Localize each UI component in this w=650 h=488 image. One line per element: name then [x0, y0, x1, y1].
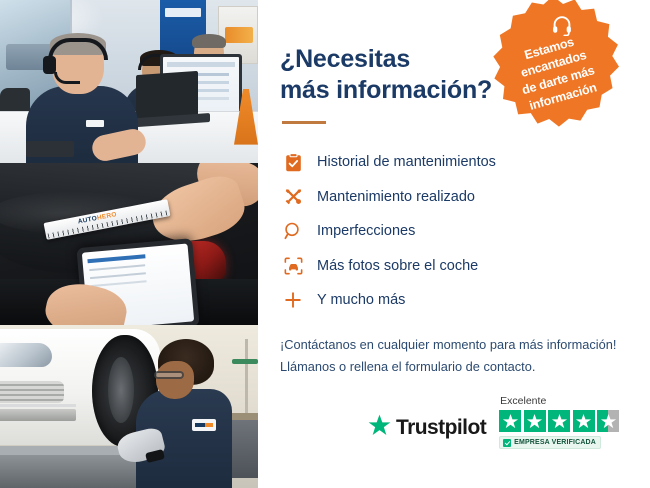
magnifier-icon [280, 222, 306, 240]
star-3 [548, 410, 570, 432]
car-inspection-ruler-photo: AUTOHERO [0, 163, 258, 326]
feature-item-imperfections: Imperfecciones [280, 215, 626, 247]
star-rating [499, 410, 619, 432]
rating-label: Excelente [499, 395, 546, 407]
title-divider [282, 121, 326, 124]
wall-tool [232, 359, 258, 364]
wrench-screwdriver-icon [280, 187, 306, 206]
feature-list: Historial de mantenimientos M [280, 146, 626, 316]
photo-column: AUTOHERO [0, 0, 258, 488]
desk-tablet [26, 141, 74, 157]
call-center-agents-photo [0, 0, 258, 163]
feature-item-maintenance-history: Historial de mantenimientos [280, 146, 626, 178]
trustpilot-star-icon [368, 414, 391, 441]
star-4 [573, 410, 595, 432]
trustpilot-wordmark: Trustpilot [396, 416, 486, 440]
page-title-line-2: más información? [280, 76, 492, 104]
info-request-banner: AUTOHERO [0, 0, 650, 488]
laptop [136, 70, 198, 118]
content-panel: ¿Necesitas más información? Historial de… [258, 0, 650, 488]
star-2 [524, 410, 546, 432]
clipboard-check-icon [280, 153, 306, 172]
verified-company-badge: EMPRESA VERIFICADA [499, 436, 601, 449]
verified-label: EMPRESA VERIFICADA [514, 439, 596, 446]
feature-item-maintenance-done: Mantenimiento realizado [280, 181, 626, 213]
plus-icon [280, 291, 306, 309]
mechanic [136, 339, 232, 488]
feature-label: Imperfecciones [306, 223, 415, 239]
car-scan-icon [280, 257, 306, 275]
trustpilot-logo[interactable]: Trustpilot [368, 414, 486, 449]
feature-label: Mantenimiento realizado [306, 189, 475, 205]
contact-line-2: Llámanos o rellena el formulario de cont… [280, 356, 626, 378]
trustpilot-rating: Excelente [499, 395, 619, 449]
star-1 [499, 410, 521, 432]
mechanic-wheel-inspection-photo [0, 325, 258, 488]
contact-line-1: ¡Contáctanos en cualquier momento para m… [280, 334, 626, 356]
page-title: ¿Necesitas más información? [280, 44, 510, 105]
page-title-line-1: ¿Necesitas [280, 45, 410, 73]
contact-text: ¡Contáctanos en cualquier momento para m… [280, 334, 626, 378]
trustpilot-widget[interactable]: Trustpilot Excelente [368, 395, 619, 449]
feature-item-more-photos: Más fotos sobre el coche [280, 250, 626, 282]
feature-label: Historial de mantenimientos [306, 154, 496, 170]
star-5 [597, 410, 619, 432]
promo-badge: Estamos encantados de darte más informac… [487, 0, 619, 128]
badge-text: Estamos encantados de darte más informac… [471, 0, 634, 144]
feature-label: Más fotos sobre el coche [306, 258, 478, 274]
feature-label: Y mucho más [306, 292, 405, 308]
check-icon [503, 439, 511, 447]
feature-item-much-more: Y mucho más [280, 284, 626, 316]
